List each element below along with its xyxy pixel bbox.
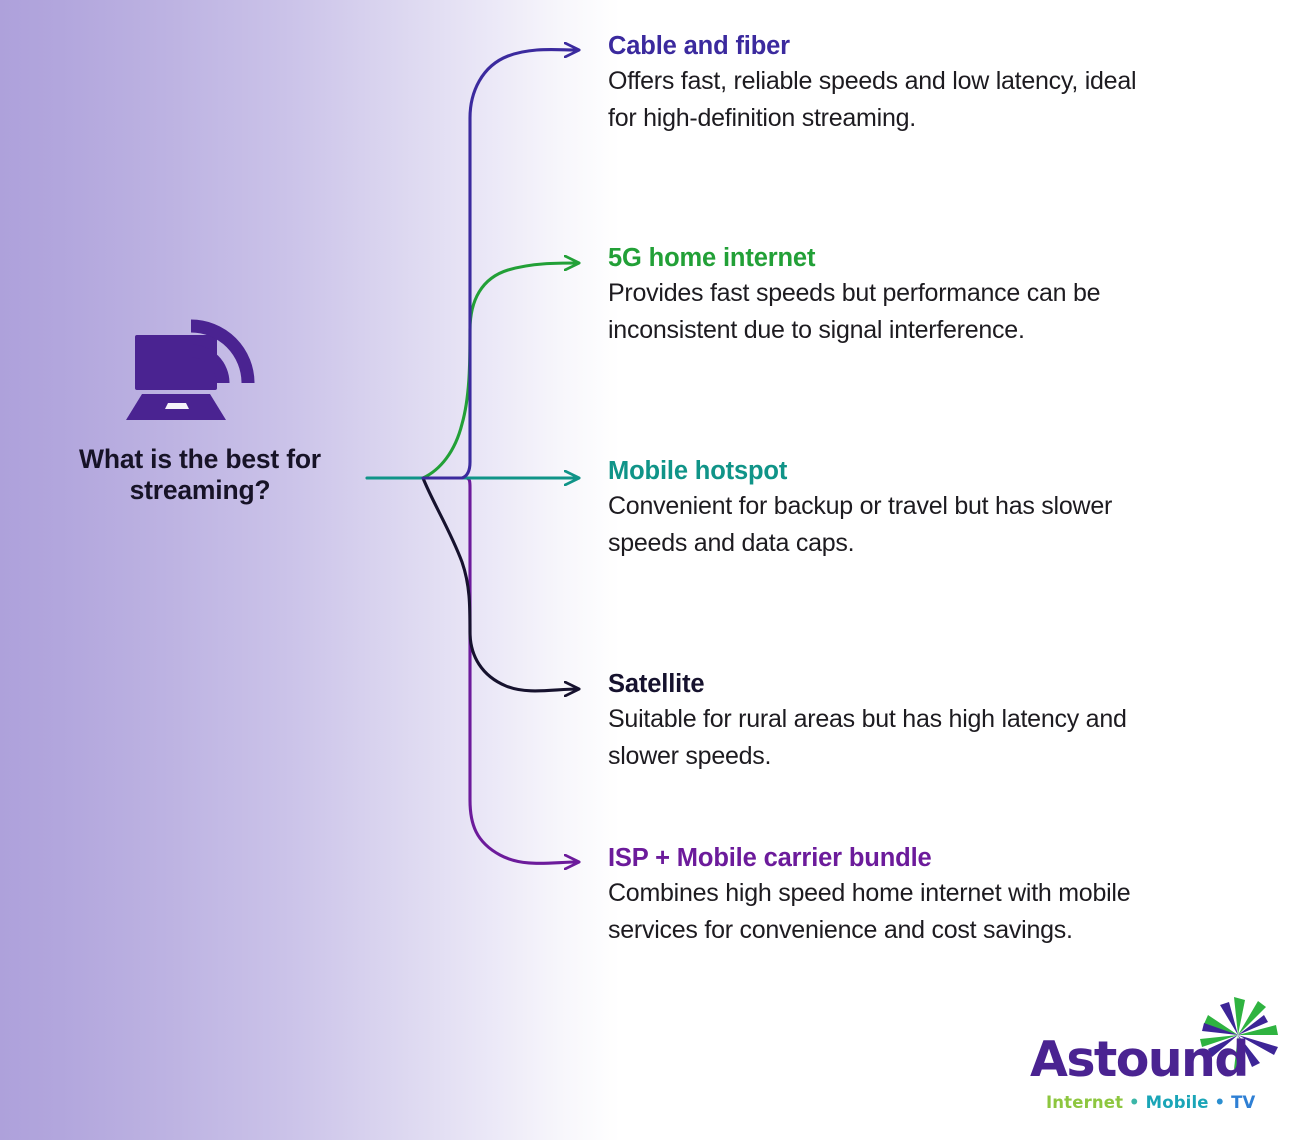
branch-satellite: Satellite Suitable for rural areas but h… (608, 670, 1208, 775)
laptop-wifi-icon (120, 280, 280, 430)
page-title: What is the best for streaming? (20, 444, 380, 507)
branch-description: Combines high speed home internet with m… (608, 875, 1188, 949)
logo-wordmark: Astound (1030, 1031, 1248, 1088)
branch-5g-home-internet: 5G home internet Provides fast speeds bu… (608, 244, 1208, 349)
astound-logo: Astound Internet • Mobile • TV (1030, 995, 1280, 1125)
infographic-canvas: What is the best for streaming? Cable an… (0, 0, 1300, 1140)
branch-description: Convenient for backup or travel but has … (608, 488, 1178, 562)
tagline-separator-1: • (1129, 1093, 1140, 1112)
connector-isp-bundle (423, 478, 578, 863)
tagline-tv: TV (1231, 1093, 1255, 1112)
branch-description: Provides fast speeds but performance can… (608, 275, 1208, 349)
branch-mobile-hotspot: Mobile hotspot Convenient for backup or … (608, 457, 1208, 562)
tagline-separator-2: • (1215, 1093, 1226, 1112)
branch-isp-mobile-bundle: ISP + Mobile carrier bundle Combines hig… (608, 844, 1208, 949)
branch-title: Satellite (608, 670, 1208, 699)
branch-title: ISP + Mobile carrier bundle (608, 844, 1208, 873)
branch-description: Offers fast, reliable speeds and low lat… (608, 63, 1168, 137)
branch-title: Mobile hotspot (608, 457, 1208, 486)
branch-cable-and-fiber: Cable and fiber Offers fast, reliable sp… (608, 32, 1208, 137)
branch-title: 5G home internet (608, 244, 1208, 273)
connector-satellite (423, 478, 578, 691)
tagline-mobile: Mobile (1146, 1093, 1209, 1112)
logo-tagline: Internet • Mobile • TV (1046, 1093, 1255, 1112)
branch-description: Suitable for rural areas but has high la… (608, 701, 1173, 775)
branch-title: Cable and fiber (608, 32, 1208, 61)
tagline-internet: Internet (1046, 1093, 1123, 1112)
central-question-node: What is the best for streaming? (20, 280, 380, 507)
branch-connectors (0, 0, 1300, 1140)
connector-5g-home-internet (423, 263, 578, 478)
